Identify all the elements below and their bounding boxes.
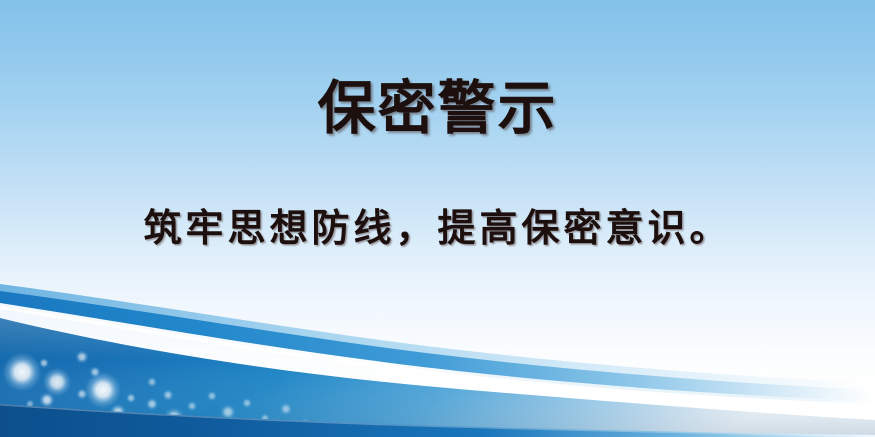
page-subtitle: 筑牢思想防线，提高保密意识。 xyxy=(0,208,875,250)
page-title: 保密警示 xyxy=(0,78,875,139)
secrecy-warning-poster: 保密警示 筑牢思想防线，提高保密意识。 xyxy=(0,0,875,437)
poster-text-layer: 保密警示 筑牢思想防线，提高保密意识。 xyxy=(0,0,875,437)
